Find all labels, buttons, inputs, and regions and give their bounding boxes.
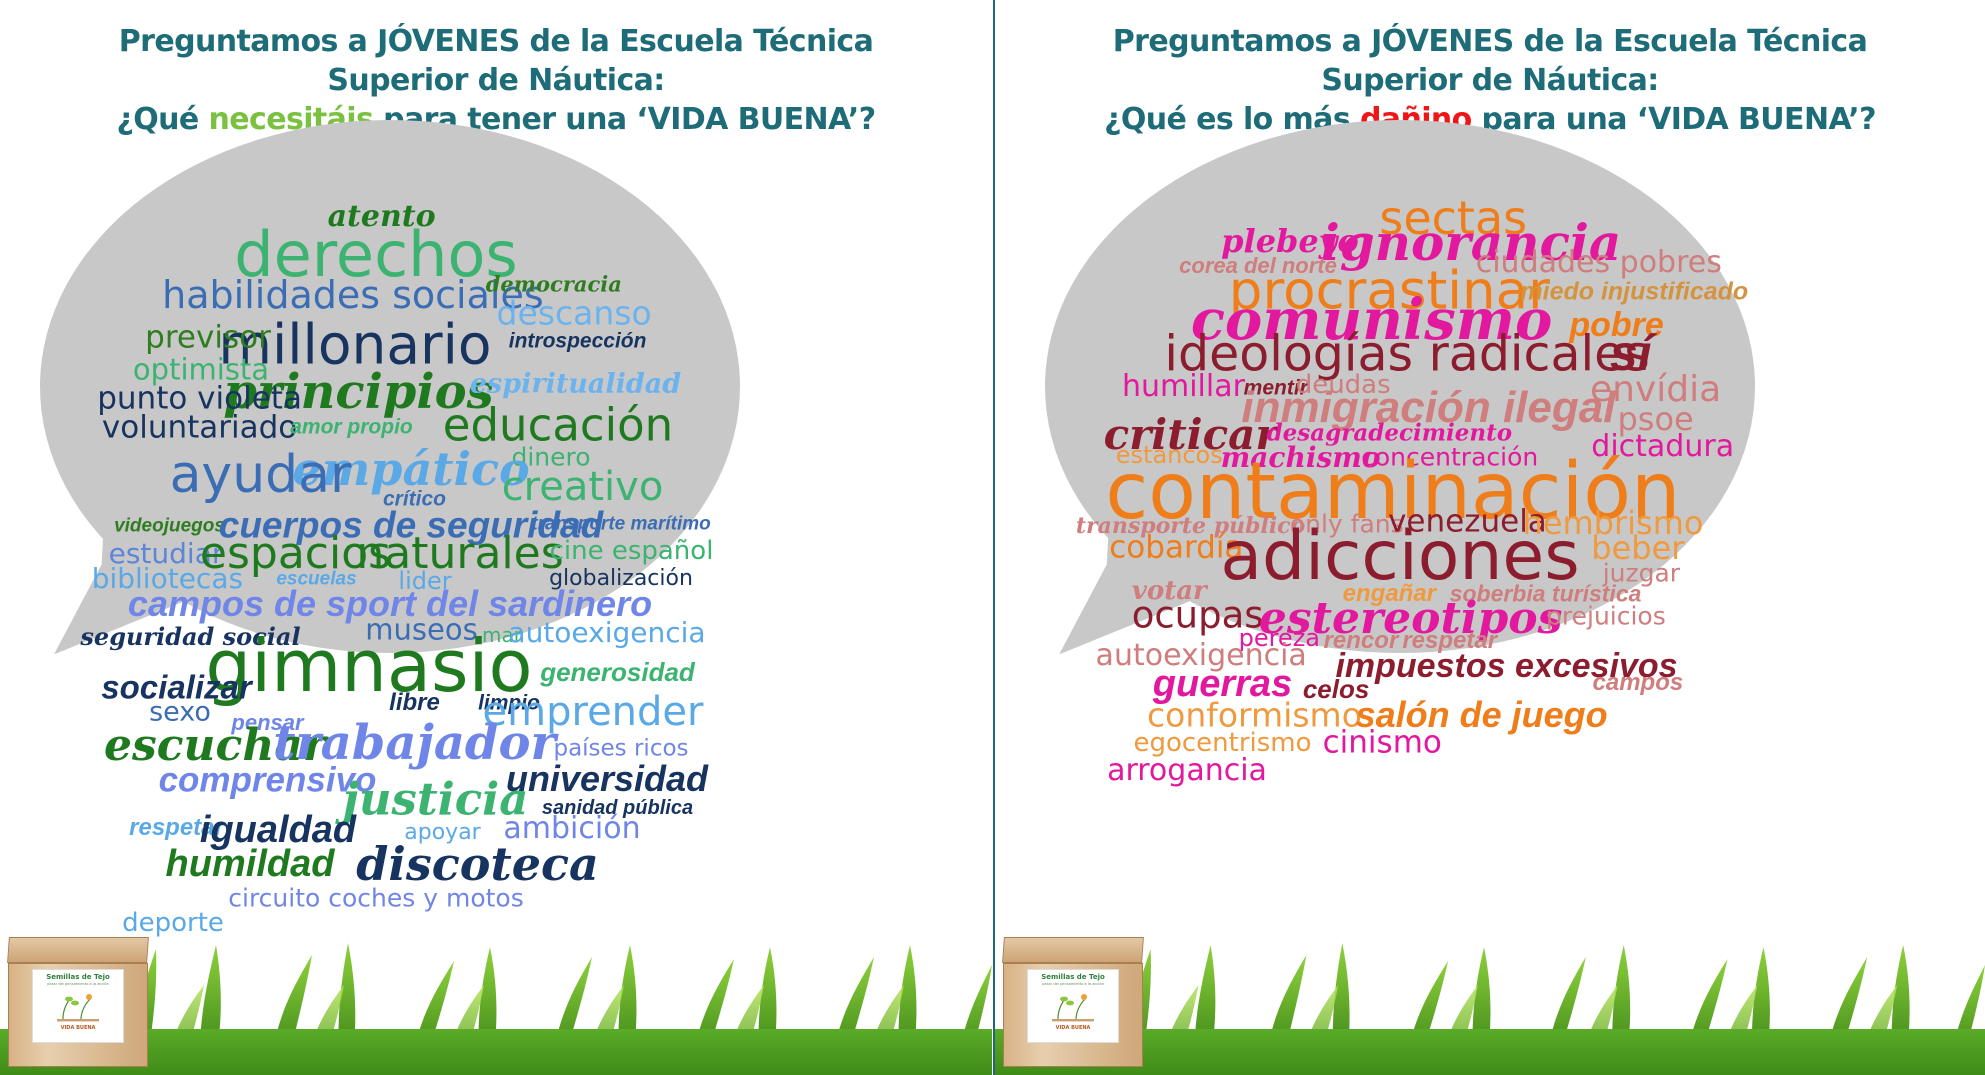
cloud-word: arrogancia: [1107, 756, 1267, 786]
cloud-word: autoexigencia: [508, 619, 705, 647]
cloud-word: introspección: [509, 330, 647, 351]
box-lid: [1002, 937, 1144, 963]
cloud-word: democracia: [486, 274, 622, 295]
cloud-word: creativo: [502, 467, 664, 507]
word-cloud-right: sectasplebeyoignoranciacorea del norteci…: [1045, 120, 1755, 740]
cloud-word: humillar: [1122, 372, 1245, 402]
poster-page: Preguntamos a JÓVENES de la Escuela Técn…: [0, 0, 1985, 1075]
word-cloud-left: atentoderechoshabilidades socialesdemocr…: [40, 120, 740, 740]
cloud-word: previsor: [145, 322, 271, 353]
speech-bubble-left: atentoderechoshabilidades socialesdemocr…: [40, 120, 740, 740]
cloud-word: campos: [1592, 671, 1683, 695]
cloud-word: amor propio: [290, 416, 413, 437]
box-tagline: pasar del pensamiento a la acción: [47, 982, 109, 986]
cloud-word: miedo injustificado: [1520, 279, 1748, 304]
heading-line-2: Superior de Náutica:: [0, 61, 992, 100]
cloud-word: libre: [389, 691, 440, 715]
cloud-word: universidad: [506, 761, 708, 797]
seed-box-right: Semillas de Tejo pasar del pensamiento a…: [1003, 937, 1153, 1067]
box-label: Semillas de Tejo pasar del pensamiento a…: [32, 969, 124, 1043]
box-lid: [7, 937, 149, 963]
cloud-word: descanso: [497, 297, 652, 330]
seed-box-left: Semillas de Tejo pasar del pensamiento a…: [8, 937, 158, 1067]
box-illustration: [55, 989, 101, 1023]
cloud-word: espiritualidad: [470, 370, 681, 397]
cloud-word: prejuicios: [1546, 604, 1666, 629]
cloud-word: educación: [443, 403, 673, 448]
box-brand: Semillas de Tejo: [1041, 973, 1105, 981]
cloud-word: voluntariado: [102, 413, 297, 444]
heading-line-1: Preguntamos a JÓVENES de la Escuela Técn…: [995, 22, 1985, 61]
cloud-word: discoteca: [356, 841, 599, 887]
heading-line-2: Superior de Náutica:: [995, 61, 1985, 100]
speech-bubble-right: sectasplebeyoignoranciacorea del norteci…: [1045, 120, 1755, 740]
panel-left: Preguntamos a JÓVENES de la Escuela Técn…: [0, 0, 992, 1075]
cloud-word: humildad: [166, 845, 335, 883]
panel-right: Preguntamos a JÓVENES de la Escuela Técn…: [993, 0, 1985, 1075]
cloud-word: justicia: [343, 776, 529, 821]
box-illustration: [1050, 989, 1096, 1023]
box-brand: Semillas de Tejo: [46, 973, 110, 981]
cloud-word: circuito coches y motos: [228, 886, 524, 911]
cloud-word: cine español: [550, 538, 714, 564]
box-footer: VIDA BUENA: [1056, 1025, 1091, 1031]
box-tagline: pasar del pensamiento a la acción: [1042, 982, 1104, 986]
cloud-word: cinismo: [1323, 728, 1442, 759]
cloud-word: generosidad: [540, 659, 695, 685]
box-label: Semillas de Tejo pasar del pensamiento a…: [1027, 969, 1119, 1043]
cloud-word: naturales: [356, 532, 563, 576]
cloud-word: ayudar: [170, 449, 352, 501]
box-footer: VIDA BUENA: [61, 1025, 96, 1031]
heading-line-1: Preguntamos a JÓVENES de la Escuela Técn…: [0, 22, 992, 61]
